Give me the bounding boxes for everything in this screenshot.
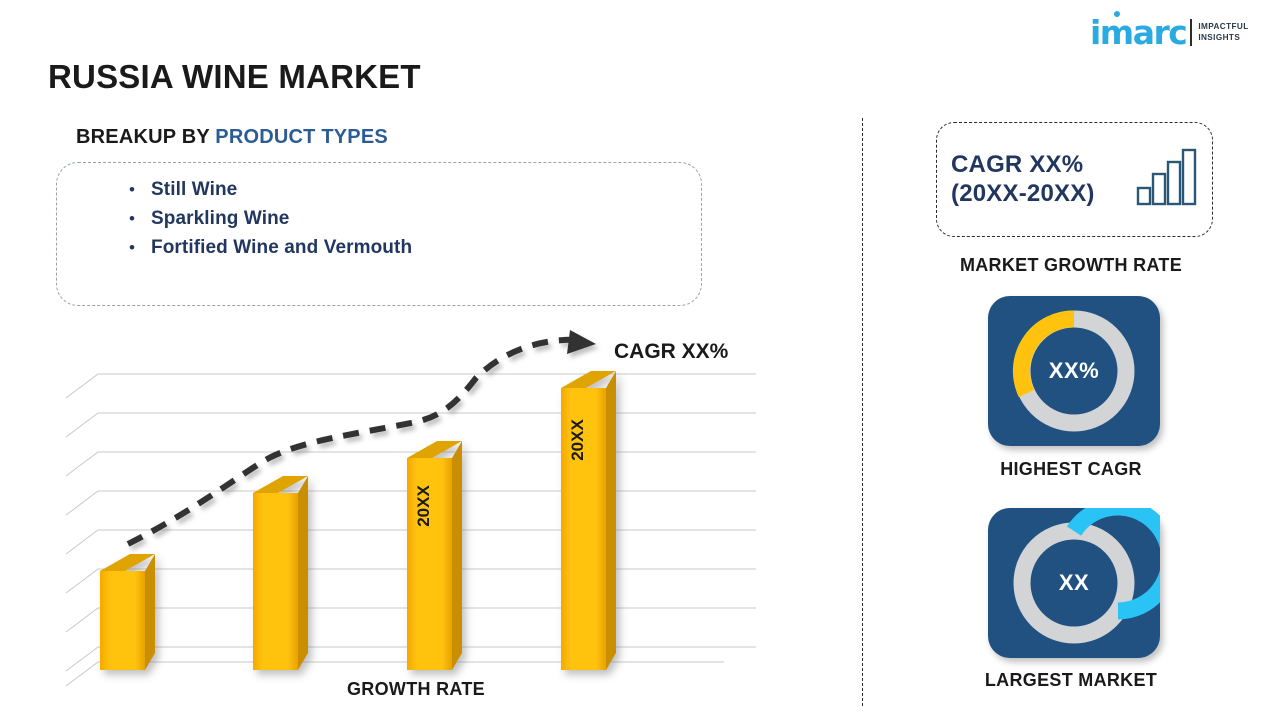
chart-bar-4 [561, 371, 616, 670]
chart-svg: 20XX 20XX [56, 330, 756, 710]
product-types-list: • Still Wine • Sparkling Wine • Fortifie… [129, 179, 412, 266]
right-column-captions: MARKET GROWTH RATE HIGHEST CAGR LARGEST … [862, 0, 1280, 720]
infographic-slide: imarc IMPACTFUL INSIGHTS RUSSIA WINE MAR… [0, 0, 1280, 720]
bar-4-year-label: 20XX [568, 419, 587, 461]
chart-bar-1 [100, 554, 155, 670]
list-item: • Still Wine [129, 179, 412, 201]
subtitle-highlight: PRODUCT TYPES [215, 126, 388, 148]
chart-x-axis-label: GROWTH RATE [347, 679, 485, 700]
bullet-dot-icon: • [129, 181, 151, 198]
highest-cagr-caption: HIGHEST CAGR [862, 459, 1280, 480]
list-item: • Fortified Wine and Vermouth [129, 237, 412, 259]
chart-bar-3 [407, 441, 462, 670]
chart-bar-2 [253, 476, 308, 670]
list-item-label: Still Wine [151, 179, 237, 201]
growth-rate-chart: 20XX 20XX [56, 330, 756, 710]
largest-market-caption: LARGEST MARKET [862, 670, 1280, 691]
chart-trend-line [128, 330, 596, 544]
page-subtitle: BREAKUP BY PRODUCT TYPES [76, 126, 388, 149]
bullet-dot-icon: • [129, 210, 151, 227]
subtitle-prefix: BREAKUP BY [76, 126, 215, 148]
trend-arrow-icon [567, 330, 596, 354]
list-item-label: Sparkling Wine [151, 208, 289, 230]
page-title: RUSSIA WINE MARKET [48, 58, 421, 96]
list-item-label: Fortified Wine and Vermouth [151, 237, 412, 259]
chart-cagr-annotation: CAGR XX% [614, 340, 728, 364]
product-types-box: • Still Wine • Sparkling Wine • Fortifie… [56, 162, 702, 306]
bullet-dot-icon: • [129, 239, 151, 256]
market-growth-rate-caption: MARKET GROWTH RATE [862, 255, 1280, 276]
list-item: • Sparkling Wine [129, 208, 412, 230]
bar-3-year-label: 20XX [414, 485, 433, 527]
